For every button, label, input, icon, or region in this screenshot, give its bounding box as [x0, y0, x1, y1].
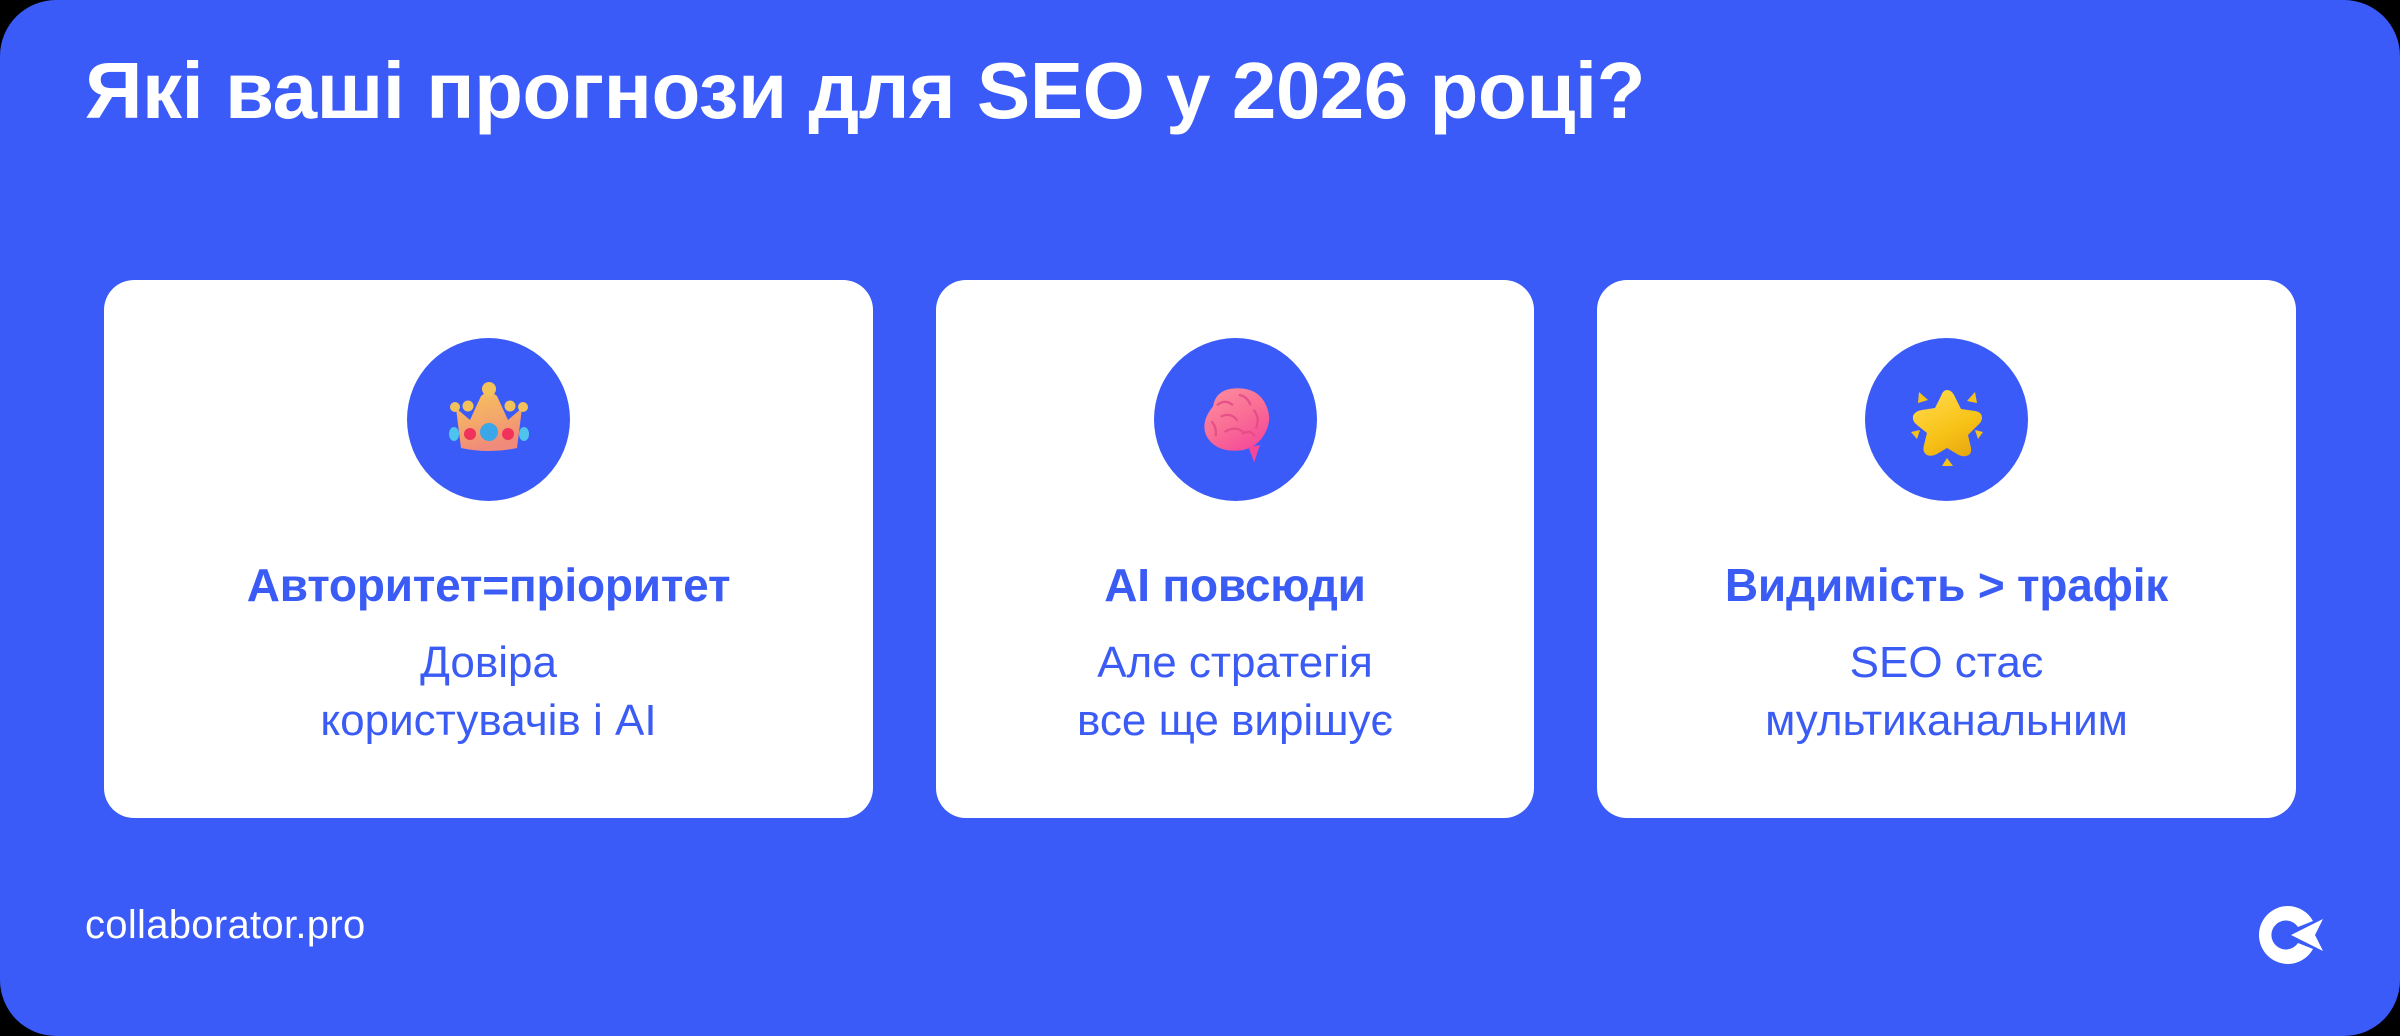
crown-icon — [439, 370, 539, 470]
glowing-star-icon — [1897, 370, 1997, 470]
brain-icon-badge — [1154, 338, 1317, 501]
card-title: Видимість > трафік — [1725, 558, 2168, 612]
brain-icon — [1187, 372, 1283, 468]
infographic-canvas: Які ваші прогнози для SEO у 2026 році? — [0, 0, 2400, 1036]
page-title: Які ваші прогнози для SEO у 2026 році? — [85, 46, 2335, 136]
card-title: Авторитет=пріоритет — [247, 558, 731, 612]
glowing-star-icon-svg — [1897, 370, 1997, 470]
prediction-card-visibility: Видимість > трафік SEO стає мультиканаль… — [1597, 280, 2296, 818]
collaborator-logo-icon — [2251, 898, 2325, 972]
crown-icon-svg — [439, 370, 539, 470]
card-body: SEO стає мультиканальним — [1765, 634, 2128, 750]
crown-icon-badge — [407, 338, 570, 501]
prediction-card-ai: AI повсюди Але стратегія все ще вирішує — [936, 280, 1534, 818]
prediction-card-authority: Авторитет=пріоритет Довіра користувачів … — [104, 280, 873, 818]
card-title: AI повсюди — [1104, 558, 1366, 612]
card-body: Довіра користувачів і AI — [320, 634, 656, 750]
site-url[interactable]: collaborator.pro — [85, 903, 366, 948]
glowing-star-icon-badge — [1865, 338, 2028, 501]
brain-icon-svg — [1187, 372, 1283, 468]
cards-row: Авторитет=пріоритет Довіра користувачів … — [104, 280, 2296, 818]
card-body: Але стратегія все ще вирішує — [1077, 634, 1393, 750]
